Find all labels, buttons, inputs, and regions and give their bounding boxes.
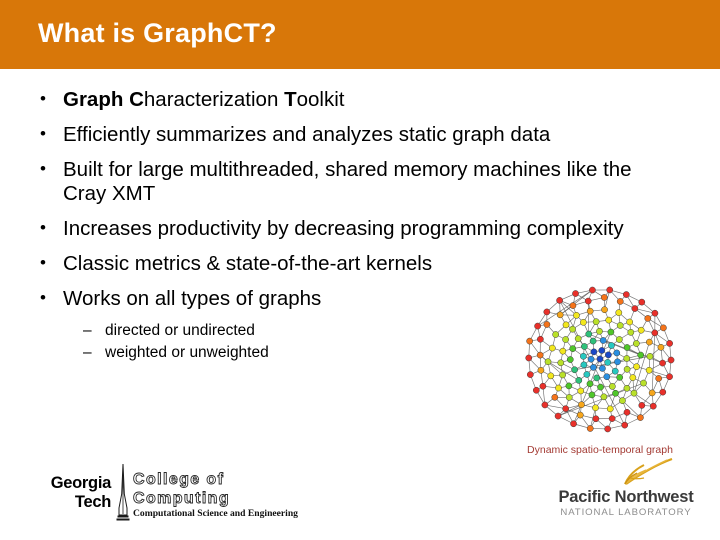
gt-college-wordmark: College of Computing [133, 472, 230, 510]
gt-wordmark-line1: Georgia [33, 475, 111, 492]
gt-department-label: Computational Science and Engineering [133, 508, 298, 519]
pnnl-logo: Pacific Northwest NATIONAL LABORATORY [546, 458, 706, 520]
gt-college-line2: Computing [133, 491, 230, 507]
sub-bullet-marker-icon: – [83, 344, 105, 363]
slide-canvas: What is GraphCT? •Graph Characterization… [0, 0, 720, 540]
bullet-item: •Increases productivity by decreasing pr… [36, 217, 661, 241]
gt-tower-icon [115, 464, 131, 522]
bullet-text: Efficiently summarizes and analyzes stat… [63, 123, 661, 147]
graph-caption: Dynamic spatio-temporal graph [505, 444, 695, 456]
graph-figure: Dynamic spatio-temporal graph [505, 282, 695, 457]
bullet-item: •Built for large multithreaded, shared m… [36, 158, 661, 206]
sub-bullet-marker-icon: – [83, 322, 105, 341]
bullet-marker-icon: • [36, 217, 63, 239]
pnnl-swoosh-icon [606, 458, 674, 488]
georgia-tech-logo: Georgia Tech College of Computing Comput… [33, 464, 298, 526]
bullet-text: Built for large multithreaded, shared me… [63, 158, 661, 206]
bullet-marker-icon: • [36, 252, 63, 274]
pnnl-subtitle: NATIONAL LABORATORY [546, 507, 706, 518]
bullet-item: •Efficiently summarizes and analyzes sta… [36, 123, 661, 147]
gt-wordmark-line2: Tech [33, 494, 111, 511]
bullet-text: Classic metrics & state-of-the-art kerne… [63, 252, 661, 276]
bullet-marker-icon: • [36, 158, 63, 180]
bullet-item: •Classic metrics & state-of-the-art kern… [36, 252, 661, 276]
page-title: What is GraphCT? [38, 18, 277, 49]
bullet-text: Increases productivity by decreasing pro… [63, 217, 661, 241]
gt-college-line1: College of [133, 472, 230, 488]
bullet-marker-icon: • [36, 88, 63, 110]
pnnl-name: Pacific Northwest [546, 488, 706, 507]
bullet-marker-icon: • [36, 123, 63, 145]
gt-wordmark: Georgia Tech [33, 475, 111, 510]
bullet-marker-icon: • [36, 287, 63, 309]
bullet-item: •Graph Characterization Toolkit [36, 88, 661, 112]
dynamic-graph-image [513, 282, 688, 437]
bullet-text: Graph Characterization Toolkit [63, 88, 661, 112]
